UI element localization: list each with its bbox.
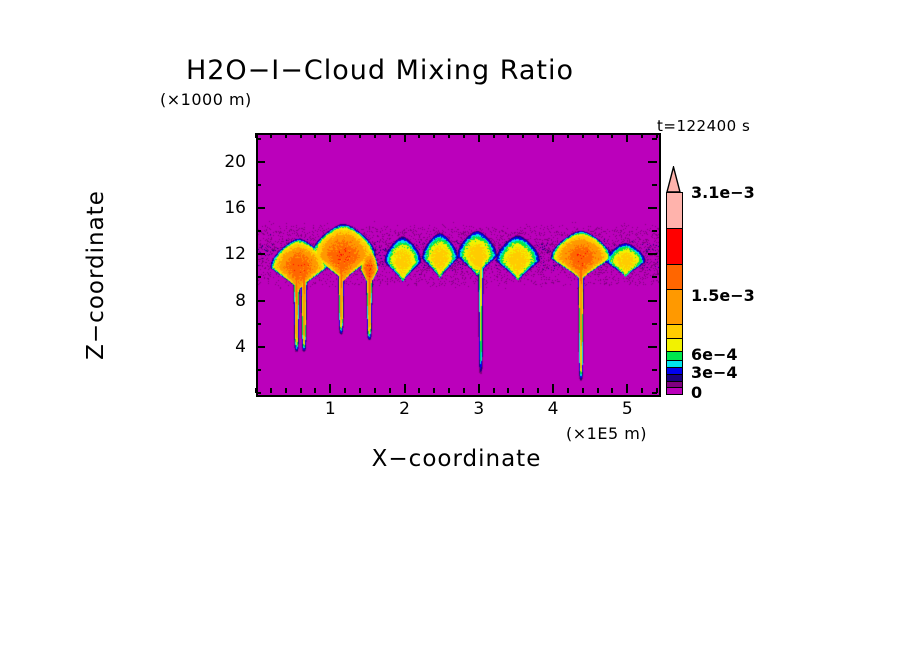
y-axis-tick bbox=[652, 184, 657, 186]
x-axis-tick bbox=[433, 133, 435, 138]
colorbar-band bbox=[667, 229, 682, 265]
y-axis-tick-label: 16 bbox=[206, 198, 246, 218]
page-title: H2O−I−Cloud Mixing Ratio bbox=[0, 55, 760, 86]
x-axis-tick bbox=[567, 388, 569, 393]
x-axis-tick bbox=[626, 384, 628, 393]
x-axis-tick bbox=[329, 133, 331, 142]
colorbar-band bbox=[667, 339, 682, 352]
x-axis-tick bbox=[389, 133, 391, 138]
y-axis-tick bbox=[648, 207, 657, 209]
x-axis-tick bbox=[418, 133, 420, 138]
x-axis-tick bbox=[463, 388, 465, 393]
x-axis-tick bbox=[493, 388, 495, 393]
y-axis-tick bbox=[652, 392, 657, 394]
y-axis-tick bbox=[256, 323, 261, 325]
colorbar-tick-label: 0 bbox=[691, 383, 702, 402]
y-axis-tick bbox=[648, 253, 657, 255]
x-axis-tick bbox=[522, 388, 524, 393]
x-axis-title: X−coordinate bbox=[256, 446, 657, 472]
x-axis-tick bbox=[314, 133, 316, 138]
x-axis-tick bbox=[359, 133, 361, 138]
y-axis-tick bbox=[256, 207, 265, 209]
x-axis-tick bbox=[374, 133, 376, 138]
x-axis-tick bbox=[374, 388, 376, 393]
y-axis-tick bbox=[648, 161, 657, 163]
x-axis-tick bbox=[300, 133, 302, 138]
x-axis-tick bbox=[537, 133, 539, 138]
x-axis-tick bbox=[478, 133, 480, 142]
x-axis-tick bbox=[285, 133, 287, 138]
plot-area bbox=[256, 133, 661, 397]
x-axis-tick bbox=[611, 388, 613, 393]
y-axis-tick bbox=[256, 300, 265, 302]
colorbar-band bbox=[667, 193, 682, 229]
colorbar-tick-label: 3.1e−3 bbox=[691, 183, 755, 202]
x-axis-tick bbox=[344, 133, 346, 138]
x-axis-tick bbox=[611, 133, 613, 138]
y-axis-tick bbox=[256, 161, 265, 163]
x-axis-tick bbox=[344, 388, 346, 393]
colorbar-band bbox=[667, 352, 682, 361]
x-axis-unit-label: (×1E5 m) bbox=[566, 424, 647, 443]
x-axis-tick bbox=[448, 388, 450, 393]
x-axis-tick bbox=[478, 384, 480, 393]
x-axis-tick bbox=[433, 388, 435, 393]
x-axis-tick bbox=[597, 133, 599, 138]
colorbar-tick-label: 6e−4 bbox=[691, 345, 738, 364]
y-axis-tick bbox=[256, 369, 261, 371]
time-annotation: t=122400 s bbox=[657, 117, 750, 135]
x-axis-tick bbox=[359, 388, 361, 393]
y-axis-tick bbox=[652, 276, 657, 278]
colorbar-band bbox=[667, 368, 682, 375]
x-axis-tick bbox=[389, 388, 391, 393]
x-axis-tick bbox=[552, 384, 554, 393]
x-axis-tick-label: 2 bbox=[399, 399, 410, 419]
y-axis-tick bbox=[648, 346, 657, 348]
x-axis-tick bbox=[270, 133, 272, 138]
x-axis-tick-label: 4 bbox=[548, 399, 559, 419]
x-axis-tick bbox=[507, 388, 509, 393]
colorbar-band bbox=[667, 388, 682, 394]
colorbar-band bbox=[667, 325, 682, 339]
y-axis-unit-label: (×1000 m) bbox=[160, 90, 252, 109]
y-axis-title: Z−coordinate bbox=[83, 125, 109, 425]
contour-field bbox=[258, 135, 659, 395]
y-axis-tick-label: 4 bbox=[206, 337, 246, 357]
x-axis-tick bbox=[507, 133, 509, 138]
y-axis-tick bbox=[652, 369, 657, 371]
x-axis-tick bbox=[404, 133, 406, 142]
y-axis-tick bbox=[256, 276, 261, 278]
x-axis-tick bbox=[626, 133, 628, 142]
x-axis-tick bbox=[448, 133, 450, 138]
x-axis-tick bbox=[329, 384, 331, 393]
y-axis-tick bbox=[652, 138, 657, 140]
colorbar-bands bbox=[666, 192, 683, 395]
colorbar-band bbox=[667, 361, 682, 368]
x-axis-tick bbox=[597, 388, 599, 393]
x-axis-tick bbox=[404, 384, 406, 393]
y-axis-tick bbox=[256, 346, 265, 348]
y-axis-tick bbox=[256, 253, 265, 255]
x-axis-tick bbox=[285, 388, 287, 393]
x-axis-tick bbox=[418, 388, 420, 393]
colorbar-arrow-icon bbox=[665, 166, 682, 193]
x-axis-tick-label: 5 bbox=[622, 399, 633, 419]
colorbar-tick-label: 1.5e−3 bbox=[691, 286, 755, 305]
x-axis-tick bbox=[300, 388, 302, 393]
colorbar-tick-label: 3e−4 bbox=[691, 363, 738, 382]
x-axis-tick-label: 1 bbox=[325, 399, 336, 419]
x-axis-tick bbox=[582, 133, 584, 138]
y-axis-tick-label: 20 bbox=[206, 152, 246, 172]
x-axis-tick bbox=[522, 133, 524, 138]
figure-root: H2O−I−Cloud Mixing Ratio (×1000 m) t=122… bbox=[0, 0, 904, 654]
x-axis-tick bbox=[567, 133, 569, 138]
x-axis-tick-label: 3 bbox=[473, 399, 484, 419]
x-axis-tick bbox=[641, 388, 643, 393]
colorbar-band bbox=[667, 265, 682, 290]
x-axis-tick bbox=[463, 133, 465, 138]
y-axis-tick bbox=[256, 392, 261, 394]
x-axis-tick bbox=[270, 388, 272, 393]
x-axis-tick bbox=[493, 133, 495, 138]
colorbar-band bbox=[667, 290, 682, 325]
x-axis-tick bbox=[537, 388, 539, 393]
x-axis-tick bbox=[314, 388, 316, 393]
y-axis-tick bbox=[652, 323, 657, 325]
y-axis-tick bbox=[652, 230, 657, 232]
y-axis-tick bbox=[256, 184, 261, 186]
x-axis-tick bbox=[641, 133, 643, 138]
y-axis-tick-label: 12 bbox=[206, 244, 246, 264]
y-axis-tick bbox=[256, 138, 261, 140]
x-axis-tick bbox=[552, 133, 554, 142]
y-axis-tick bbox=[648, 300, 657, 302]
y-axis-tick bbox=[256, 230, 261, 232]
y-axis-tick-label: 8 bbox=[206, 291, 246, 311]
colorbar-band bbox=[667, 375, 682, 382]
x-axis-tick bbox=[582, 388, 584, 393]
